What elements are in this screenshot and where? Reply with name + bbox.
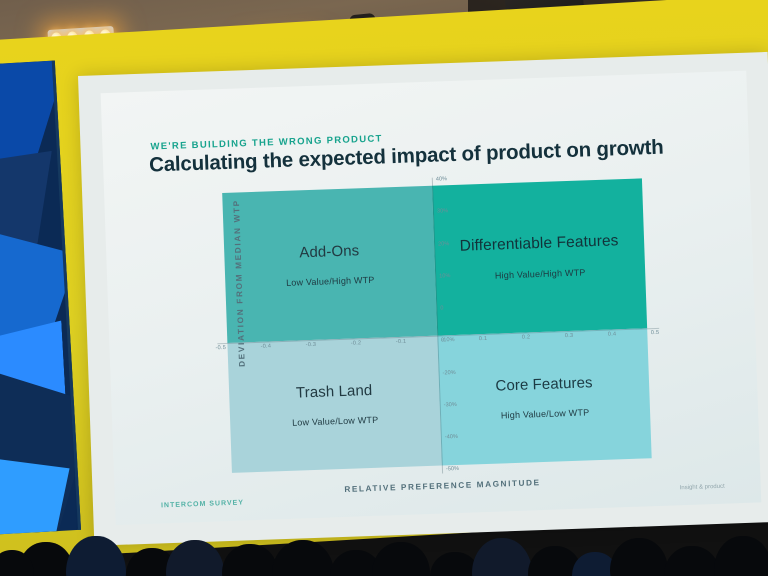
quadrant-title: Add-Ons [299,242,359,261]
quadrant-subtitle: Low Value/High WTP [286,274,375,287]
y-tick: -30% [444,403,457,409]
audience-head [66,536,126,576]
x-tick: 0.2 [522,334,531,340]
x-tick: 0.3 [565,333,574,339]
x-tick: 0.5 [651,330,660,336]
quadrant-title: Core Features [495,374,593,394]
y-tick: 30% [437,209,450,215]
photo-of-conference-stage: WE'RE BUILDING THE WRONG PRODUCT Calcula… [0,0,768,576]
x-tick: -0.1 [396,339,407,345]
y-tick: -40% [445,435,458,441]
slide-footer-right: Insight & product [680,484,725,492]
quadrant-add-ons: Add-Ons Low Value/High WTP [222,186,437,343]
x-axis-label: RELATIVE PREFERENCE MAGNITUDE [233,474,653,498]
y-tick: -50% [446,467,459,473]
y-tick: 20% [438,242,451,248]
y-tick: -10% [441,338,454,344]
x-tick: -0.2 [351,340,362,346]
quadrant-core-features: Core Features High Value/Low WTP [437,328,651,465]
audience-head [166,540,224,576]
y-tick: 10% [439,274,452,280]
y-tick: 0 [440,306,453,312]
x-tick: -0.5 [215,345,226,351]
presentation-slide: WE'RE BUILDING THE WRONG PRODUCT Calcula… [101,71,762,525]
quadrant-title: Trash Land [296,381,373,401]
y-tick: 40% [436,177,449,183]
audience-head [272,540,334,576]
y-tick: -20% [443,371,456,377]
audience-head [472,538,532,576]
x-tick: 0.4 [608,331,617,337]
audience-head [610,538,668,576]
quadrant-subtitle: High Value/Low WTP [501,407,590,420]
quadrant-chart: Add-Ons Low Value/High WTP Differentiabl… [222,178,652,472]
x-tick: -0.3 [306,342,317,348]
x-tick: 0.1 [479,336,488,342]
projection-screen: WE'RE BUILDING THE WRONG PRODUCT Calcula… [78,52,768,546]
quadrant-subtitle: High Value/High WTP [495,267,586,280]
quadrant-trash-land: Trash Land Low Value/Low WTP [227,336,441,473]
audience-head [714,536,768,576]
audience-head [222,544,278,576]
audience-head [372,542,430,576]
quadrant-differentiable-features: Differentiable Features High Value/High … [432,178,647,335]
audience-silhouettes [0,496,768,576]
x-tick: -0.4 [261,343,272,349]
quadrant-subtitle: Low Value/Low WTP [292,414,379,427]
quadrant-title: Differentiable Features [459,232,618,256]
audience-head [664,546,720,576]
